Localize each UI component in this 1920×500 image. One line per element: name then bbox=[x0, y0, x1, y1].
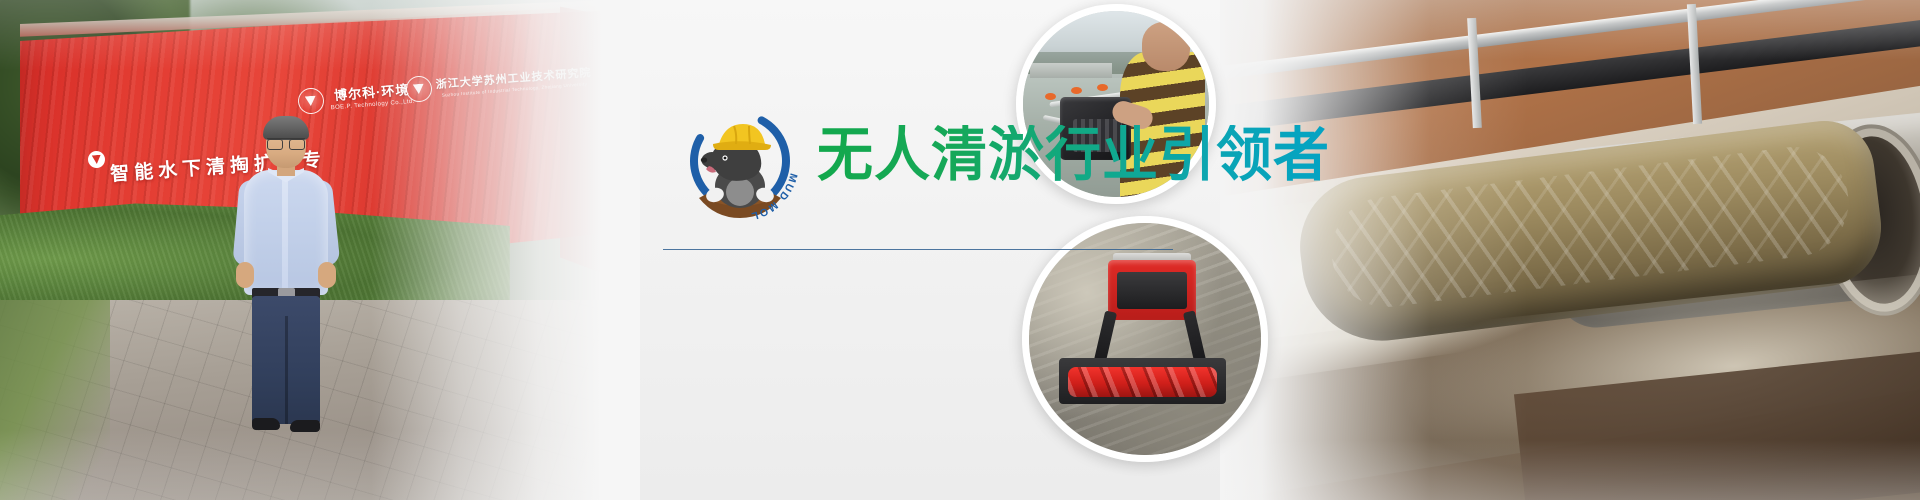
right-photo-edge-mask bbox=[1220, 0, 1920, 500]
left-photo-edge-mask bbox=[0, 0, 640, 500]
logo-mole-nose bbox=[701, 157, 707, 162]
logo-mole-belly bbox=[726, 178, 754, 206]
logo-helmet bbox=[719, 124, 765, 144]
left-photo: 博尔科·环境 BOE.P. Technology Co.,Ltd. 浙江大学苏州… bbox=[0, 0, 640, 500]
page-title: 无人清淤行业引领者 bbox=[817, 125, 1330, 184]
title-divider bbox=[663, 249, 1173, 250]
logo-mole-eye bbox=[724, 157, 727, 160]
center-content: MUD MOLE 无人清淤行业引领者 bbox=[655, 0, 1215, 500]
hero-banner: 博尔科·环境 BOE.P. Technology Co.,Ltd. 浙江大学苏州… bbox=[0, 0, 1920, 500]
right-photo-collage bbox=[1220, 0, 1920, 500]
mud-mole-logo: MUD MOLE bbox=[679, 100, 801, 222]
